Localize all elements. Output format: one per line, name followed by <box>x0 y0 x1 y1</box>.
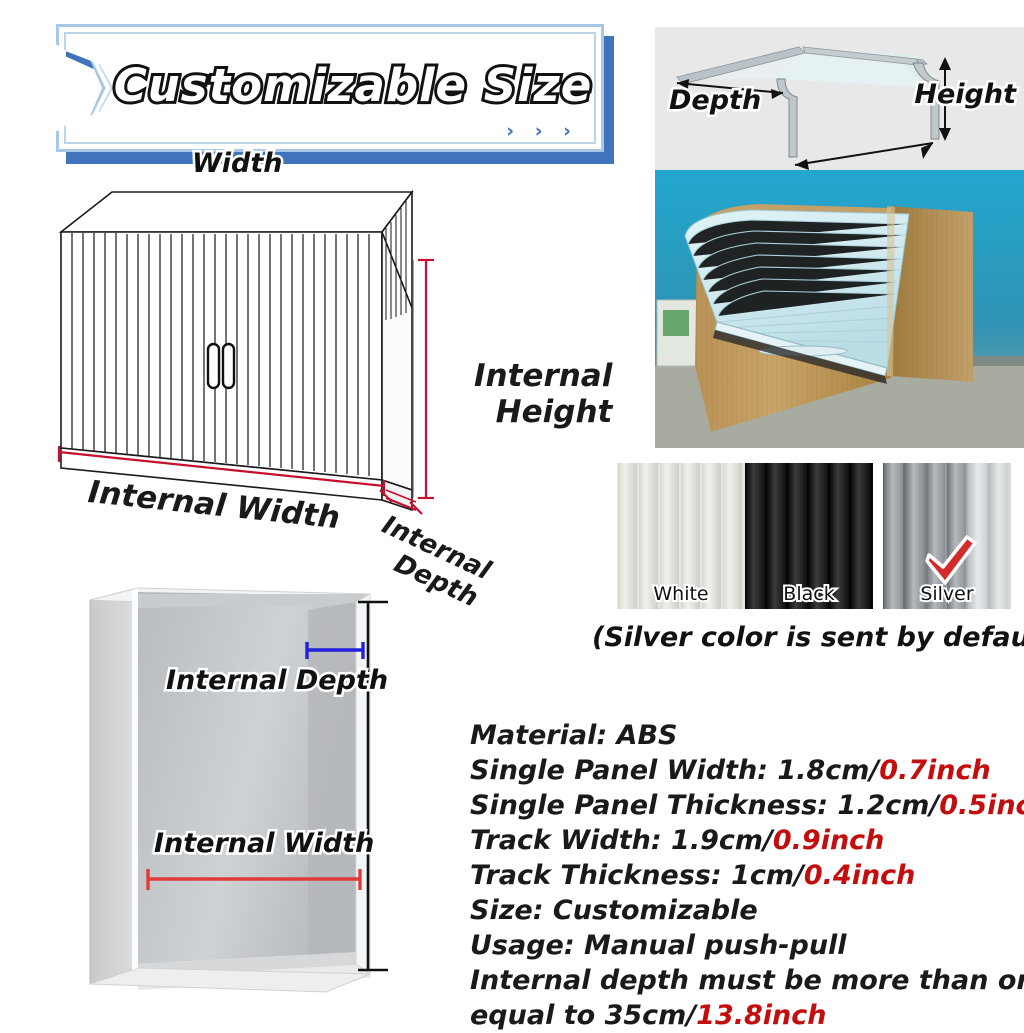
product-photo <box>655 170 1024 448</box>
silver-swatch[interactable]: Silver <box>883 463 1011 609</box>
spec-inch: 0.4inch <box>804 860 916 891</box>
product-photo-svg <box>655 170 1024 448</box>
track-dimension-diagram: Depth Height <box>655 27 1024 172</box>
spec-text: Single Panel Thickness: 1.2cm/ <box>470 790 939 821</box>
spec-line: Track Thickness: 1cm/0.4inch <box>470 858 1024 893</box>
box-label-internal-width: Internal Width <box>154 828 374 859</box>
spec-inch: 0.5inch <box>939 790 1024 821</box>
spec-text: equal to 35cm/ <box>470 1000 696 1031</box>
box-label-internal-depth: Internal Depth <box>166 665 388 696</box>
page-title: Customizable Size <box>118 54 588 116</box>
spec-text: Usage: Manual push-pull <box>470 930 847 961</box>
isometric-cabinet-diagram: Internal Height Internal Width Internal … <box>34 180 654 600</box>
spec-text: Size: Customizable <box>470 895 758 926</box>
iso-label-internal-height-line1: Internal <box>474 358 612 394</box>
white-swatch[interactable]: White <box>617 463 745 609</box>
infographic-root: Customizable Size › › › <box>0 0 1024 1015</box>
black-swatch-label: Black <box>745 583 873 605</box>
spec-text: Internal depth must be more than or <box>470 965 1024 996</box>
specification-list: Material: ABS Single Panel Width: 1.8cm/… <box>470 718 1024 1033</box>
spec-line: Internal depth must be more than or <box>470 963 1024 998</box>
white-swatch-label: White <box>617 583 745 605</box>
spec-line: Material: ABS <box>470 718 1024 753</box>
spec-line: Single Panel Thickness: 1.2cm/0.5inch <box>470 788 1024 823</box>
iso-label-internal-height-line2: Height <box>474 394 612 430</box>
chevron-right-icon: › › › <box>506 120 578 142</box>
silver-swatch-label: Silver <box>883 583 1011 605</box>
iso-label-internal-height: Internal Height <box>474 358 612 430</box>
spec-line: Size: Customizable <box>470 893 1024 928</box>
color-swatch-group: White <box>617 463 1017 609</box>
spec-inch: 0.7inch <box>879 755 991 786</box>
open-box-cabinet-svg <box>80 580 480 1000</box>
spec-line: equal to 35cm/13.8inch <box>470 998 1024 1033</box>
spec-inch: 13.8inch <box>696 1000 826 1031</box>
selected-check-icon <box>919 535 979 587</box>
spec-line: Single Panel Width: 1.8cm/0.7inch <box>470 753 1024 788</box>
default-color-note: (Silver color is sent by default) <box>592 622 1024 653</box>
spec-text: Single Panel Width: 1.8cm/ <box>470 755 879 786</box>
open-box-cabinet-diagram: Internal Depth Internal Width <box>80 580 480 1000</box>
spec-text: Track Thickness: 1cm/ <box>470 860 804 891</box>
spec-text: Track Width: 1.9cm/ <box>470 825 773 856</box>
track-label-depth: Depth <box>669 85 761 116</box>
track-label-height: Height <box>914 79 1016 110</box>
track-label-width: Width <box>192 148 283 179</box>
header-banner: Customizable Size › › › <box>56 24 604 152</box>
spec-line: Track Width: 1.9cm/0.9inch <box>470 823 1024 858</box>
spec-line: Usage: Manual push-pull <box>470 928 1024 963</box>
spec-text: Material: ABS <box>470 720 677 751</box>
spec-inch: 0.9inch <box>773 825 885 856</box>
black-swatch[interactable]: Black <box>745 463 873 609</box>
